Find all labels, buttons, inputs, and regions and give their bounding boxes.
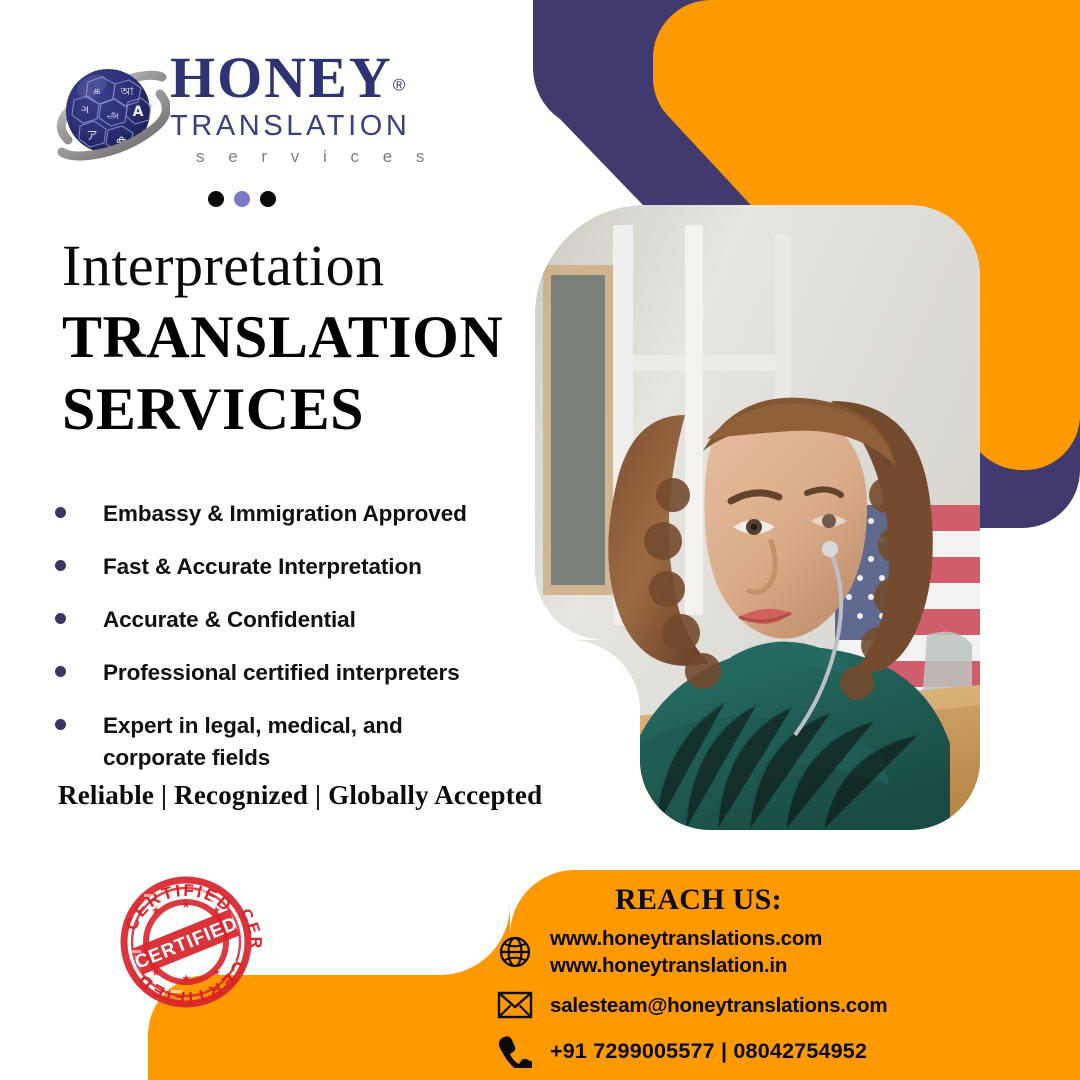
headline-script-line: Interpretation	[62, 234, 532, 298]
list-item: Accurate & Confidential	[55, 604, 535, 636]
phone-line[interactable]: +91 7299005577 | 08042754952	[550, 1038, 867, 1065]
envelope-icon	[495, 985, 535, 1025]
dot-3[interactable]	[260, 191, 276, 207]
contact-row-email[interactable]: salesteam@honeytranslations.com	[495, 985, 1075, 1025]
svg-text:ा: ा	[148, 100, 157, 111]
logo-name-tertiary: s e r v i c e s	[196, 147, 460, 167]
contact-panel: REACH US: www.honeytranslations.com www.…	[420, 870, 1080, 1080]
carousel-dots[interactable]	[208, 191, 276, 207]
svg-text:ア: ア	[87, 129, 98, 142]
contact-rows: www.honeytranslations.com www.honeytrans…	[495, 925, 1075, 1077]
headline-main-line-2: SERVICES	[62, 376, 532, 442]
phone-icon	[495, 1031, 535, 1071]
logo-name-primary: HONEY	[170, 48, 393, 108]
logo-wordmark: HONEY® TRANSLATION s e r v i c e s	[170, 48, 460, 167]
list-item: Expert in legal, medical, and corporate …	[55, 710, 455, 774]
contact-row-phone[interactable]: +91 7299005577 | 08042754952	[495, 1031, 1075, 1071]
svg-text:A: A	[133, 104, 144, 120]
website-line-2[interactable]: www.honeytranslation.in	[550, 954, 787, 977]
brand-logo[interactable]: க আ ा ગ அ A ア ക ह HONEY® TRANSLATION s e…	[52, 48, 452, 178]
svg-text:আ: আ	[120, 85, 134, 98]
feature-label: Accurate & Confidential	[103, 604, 356, 636]
svg-text:ગ: ગ	[81, 103, 89, 116]
bullet-dot-icon	[55, 560, 66, 571]
feature-list: Embassy & Immigration Approved Fast & Ac…	[55, 498, 535, 795]
svg-text:அ: அ	[107, 108, 119, 121]
certified-stamp-icon: ★★★ ★★★ CERTIFIED CERTIFIED CER CERTIFIE…	[104, 872, 269, 1012]
bullet-dot-icon	[55, 666, 66, 677]
tagline: Reliable | Recognized | Globally Accepte…	[58, 780, 542, 811]
dot-1[interactable]	[208, 191, 224, 207]
logo-name-secondary: TRANSLATION	[170, 110, 460, 143]
website-line-1[interactable]: www.honeytranslations.com	[550, 927, 822, 950]
list-item: Embassy & Immigration Approved	[55, 498, 535, 530]
list-item: Professional certified interpreters	[55, 657, 535, 689]
reach-us-heading: REACH US:	[615, 883, 782, 917]
headline-main-line-1: TRANSLATION	[62, 304, 532, 370]
email-line[interactable]: salesteam@honeytranslations.com	[550, 992, 887, 1019]
svg-text:★: ★	[181, 972, 191, 985]
globe-logo-icon: க আ ा ગ அ A ア ക ह	[52, 56, 170, 168]
headline-block: Interpretation TRANSLATION SERVICES	[62, 234, 532, 442]
bullet-dot-icon	[55, 613, 66, 624]
bullet-dot-icon	[55, 719, 66, 730]
contact-row-website[interactable]: www.honeytranslations.com www.honeytrans…	[495, 925, 1075, 979]
hero-photo	[535, 205, 980, 830]
website-lines[interactable]: www.honeytranslations.com www.honeytrans…	[550, 925, 822, 979]
feature-label: Fast & Accurate Interpretation	[103, 551, 422, 583]
feature-label: Expert in legal, medical, and corporate …	[103, 710, 455, 774]
poster-canvas: க আ ा ગ அ A ア ക ह HONEY® TRANSLATION s e…	[0, 0, 1080, 1080]
registered-mark: ®	[393, 76, 406, 95]
feature-label: Professional certified interpreters	[103, 657, 460, 689]
dot-2[interactable]	[234, 191, 250, 207]
bullet-dot-icon	[55, 507, 66, 518]
list-item: Fast & Accurate Interpretation	[55, 551, 535, 583]
globe-icon	[495, 932, 535, 972]
feature-label: Embassy & Immigration Approved	[103, 498, 467, 530]
